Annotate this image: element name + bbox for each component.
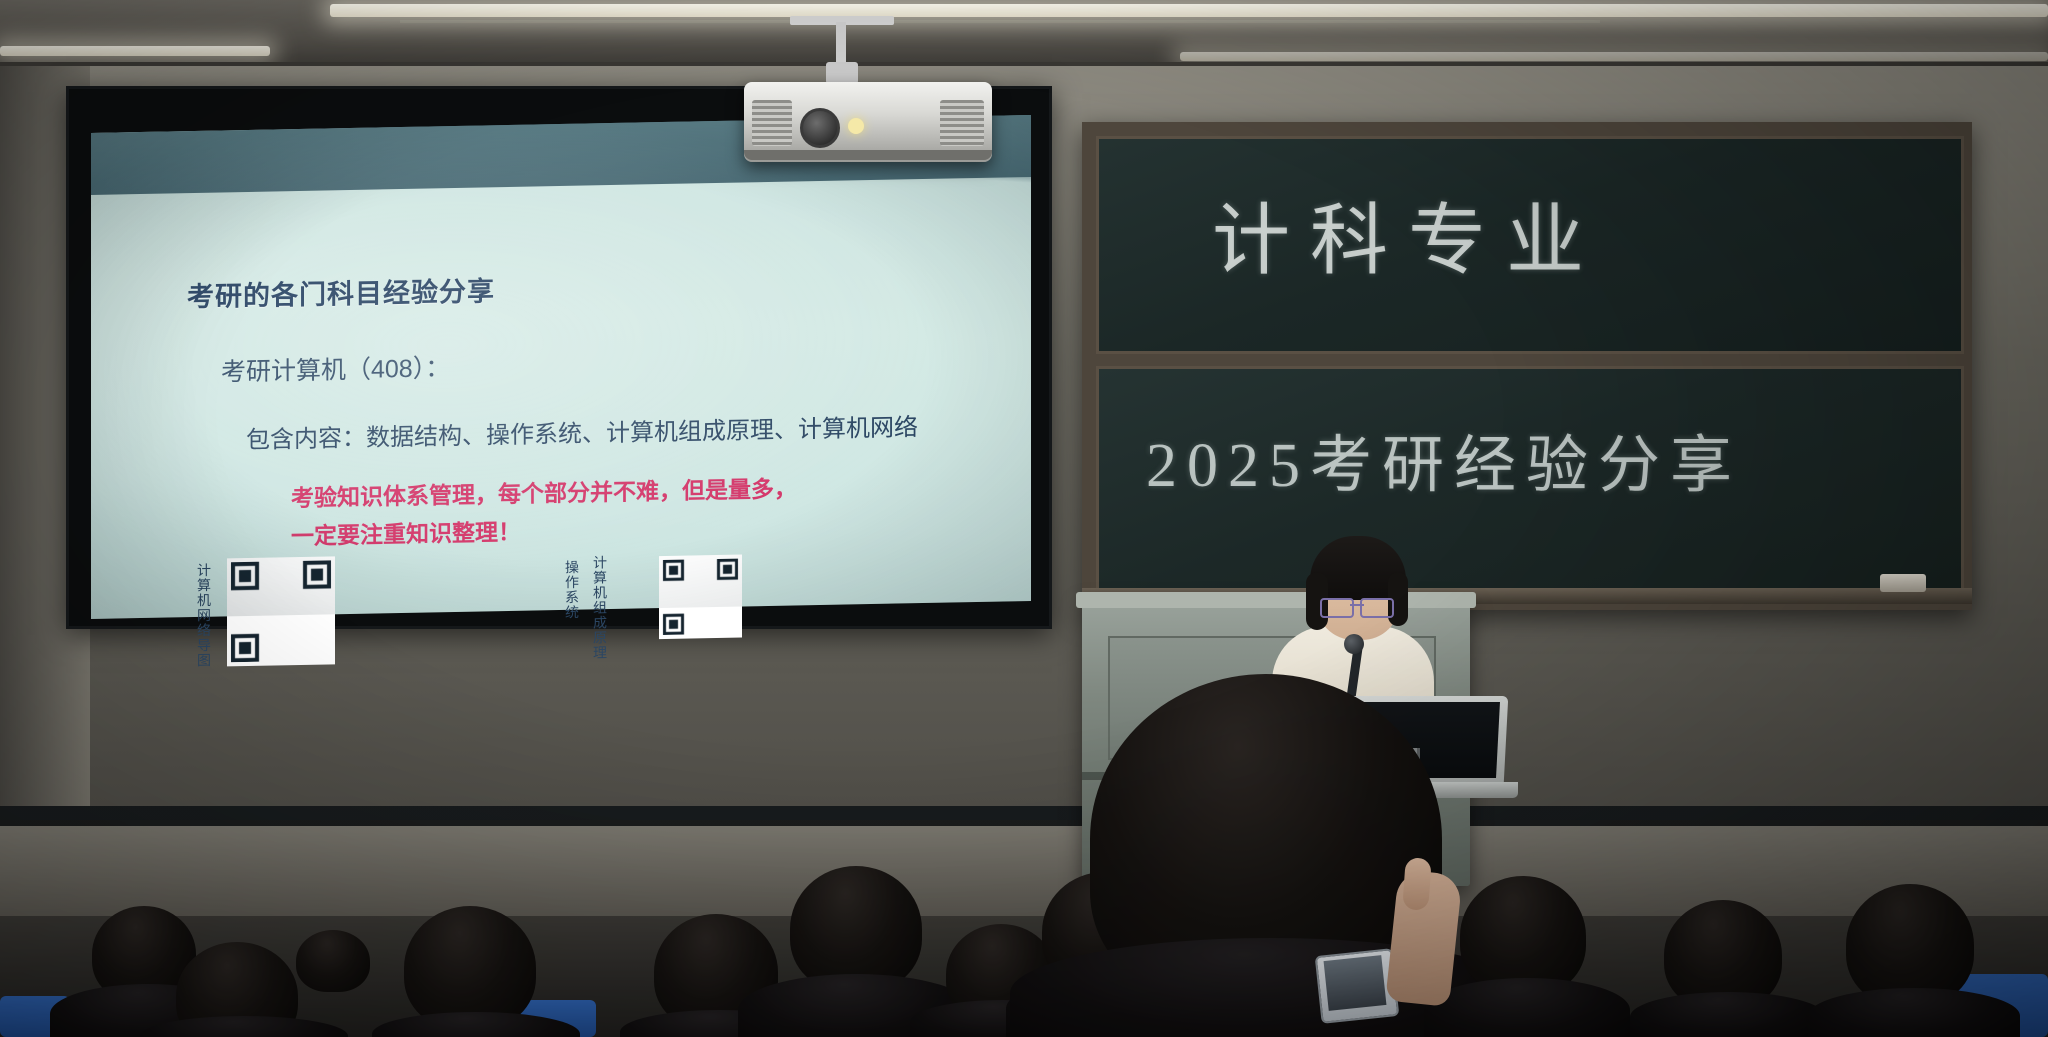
audience-finger [1402,857,1432,911]
qr-code-right[interactable] [659,555,742,640]
projection-screen: 考研的各门科目经验分享 考研计算机（408）： 包含内容：数据结构、操作系统、计… [66,86,1052,629]
qr-label-os: 操作系统 [563,560,580,664]
qr-code-left[interactable] [227,556,335,666]
microphone-head-icon [1344,634,1364,654]
slide-subject-line: 考研计算机（408）： [221,348,450,388]
audience-shoulders [1808,988,2020,1037]
projector-lamp-indicator [848,118,864,134]
chalk-text-title: 2025考研经验分享 [1146,414,1742,504]
phone-screen[interactable] [1324,955,1387,1011]
projector-lens-icon [800,108,840,148]
ceiling-light-tube [0,46,270,56]
slide-highlight-line-2: 一定要注重知识整理！ [291,513,521,551]
ceiling-light-tube [330,4,2048,17]
projector-vent-icon [940,100,984,146]
glasses-icon [1320,598,1394,614]
podium-desktop [1076,592,1476,608]
ceiling-beam [400,20,1600,23]
ceiling-light-tube [1180,52,2048,61]
qr-label-architecture: 计算机组成原理 [591,555,608,677]
eraser[interactable] [1880,574,1926,592]
projector-body-edge [744,150,992,160]
qr-label-network-map: 计算机网络导图 [195,563,212,685]
chalk-text-major: 计科专业 [1212,178,1604,290]
audience-shoulders [1424,978,1630,1037]
projector-arm [826,62,858,84]
audience-head [296,930,370,992]
classroom-scene: 计科专业 2025考研经验分享 考研的各门科目经验分享 考研计算机（408）： … [0,0,2048,1037]
slide-title: 考研的各门科目经验分享 [187,269,495,314]
projector-vent-icon [752,100,792,146]
slide-contents-line: 包含内容：数据结构、操作系统、计算机组成原理、计算机网络 [246,407,918,455]
audience-shoulders [1630,992,1826,1037]
slide-content: 考研的各门科目经验分享 考研计算机（408）： 包含内容：数据结构、操作系统、计… [91,115,1031,619]
slide-highlight-line-1: 考验知识体系管理，每个部分并不难，但是量多， [291,469,797,513]
